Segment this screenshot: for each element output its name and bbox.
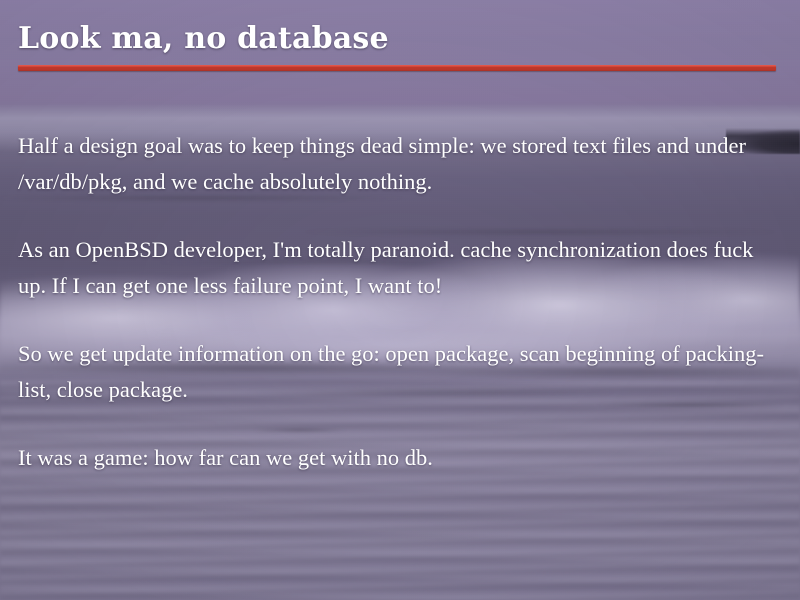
body-paragraph-4: It was a game: how far can we get with n… [18, 440, 766, 476]
slide-title: Look ma, no database [18, 22, 778, 56]
title-underline-rule [18, 65, 776, 71]
slide-body-text: Half a design goal was to keep things de… [18, 128, 766, 476]
body-paragraph-2: As an OpenBSD developer, I'm totally par… [18, 232, 766, 304]
body-paragraph-3: So we get update information on the go: … [18, 336, 766, 408]
presentation-slide: Look ma, no database Half a design goal … [0, 0, 800, 600]
slide-content: Look ma, no database Half a design goal … [0, 0, 800, 600]
body-paragraph-1: Half a design goal was to keep things de… [18, 128, 766, 200]
